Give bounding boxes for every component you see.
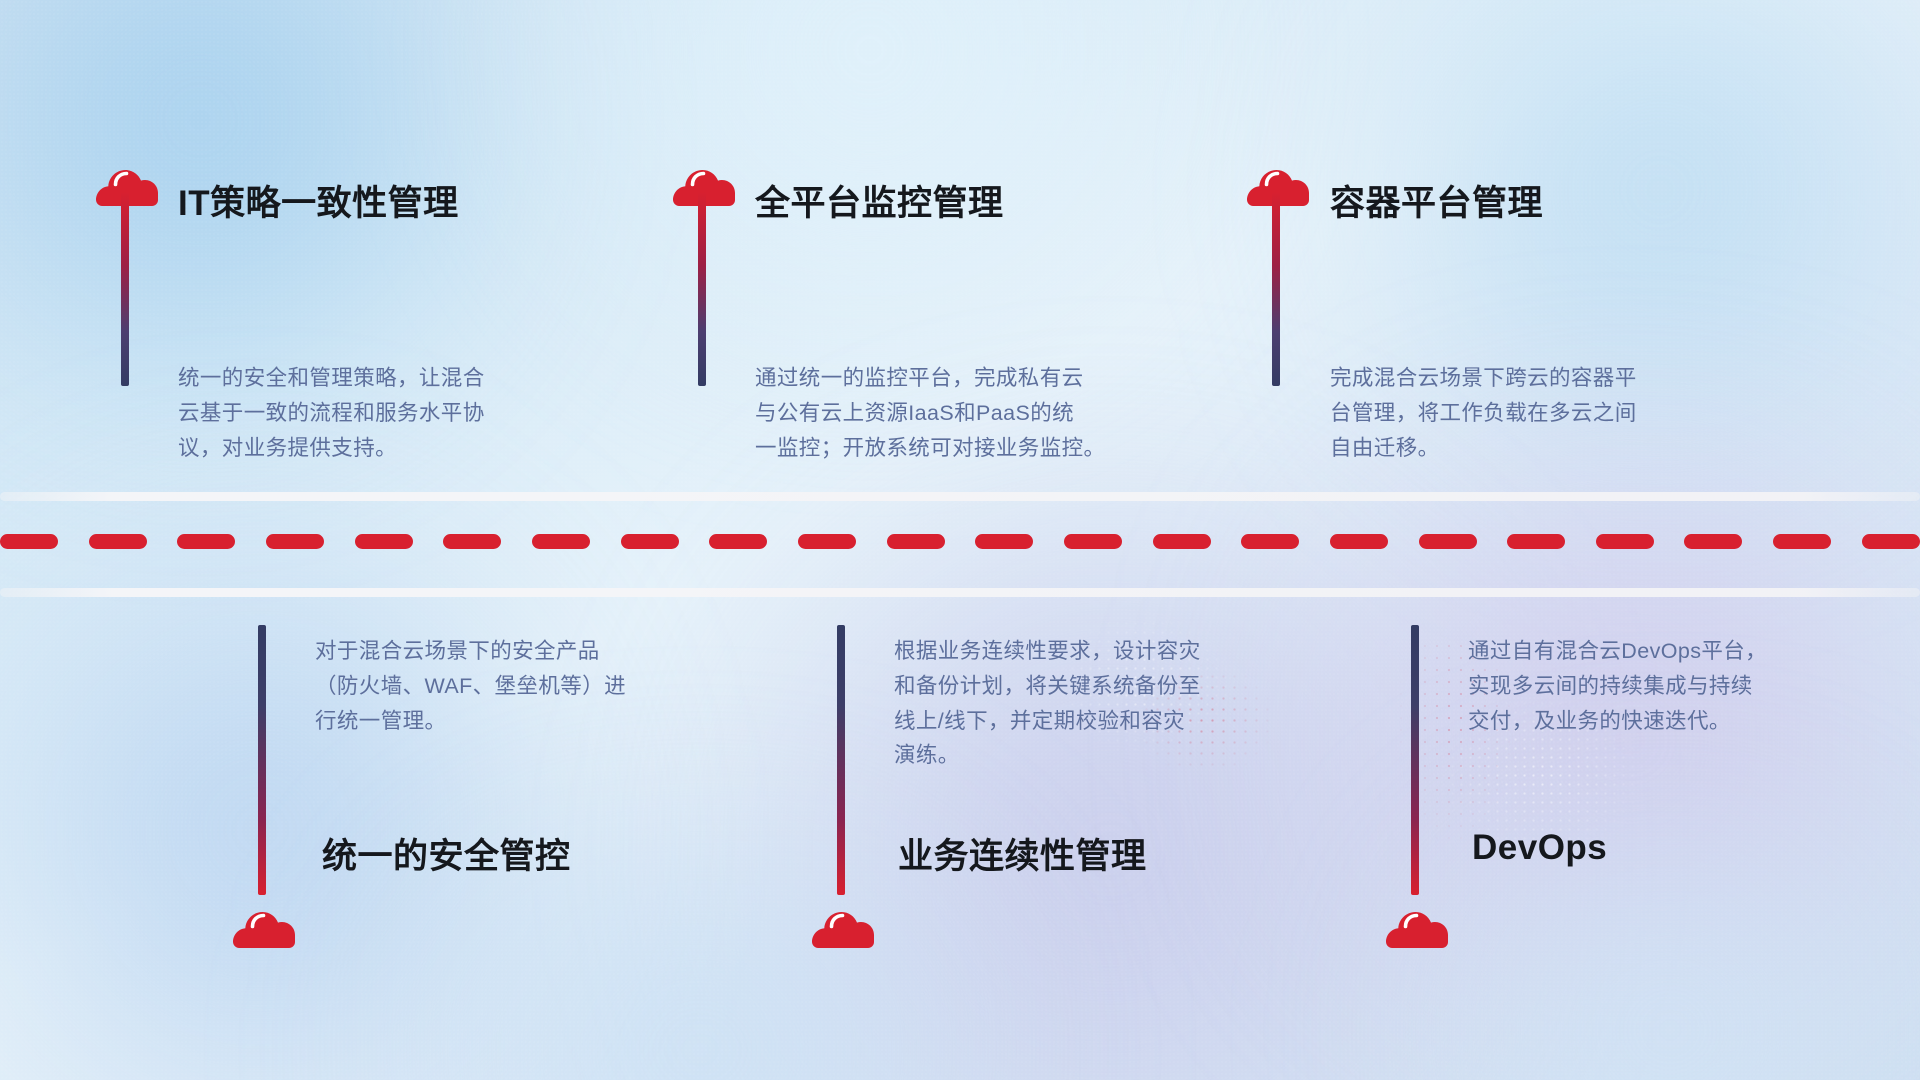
bottom-row: 对于混合云场景下的安全产品 （防火墙、WAF、堡垒机等）进 行统一管理。 统一的… [0,0,1920,1080]
feature-description: 对于混合云场景下的安全产品 （防火墙、WAF、堡垒机等）进 行统一管理。 [315,634,735,738]
feature-title: 统一的安全管控 [322,828,571,879]
connector-line [837,625,845,895]
feature-description: 根据业务连续性要求，设计容灾 和备份计划，将关键系统备份至 线上/线下，并定期校… [894,634,1324,773]
cloud-icon [233,902,295,948]
feature-description: 通过自有混合云DevOps平台， 实现多云间的持续集成与持续 交付，及业务的快速… [1468,634,1898,738]
connector-line [258,625,266,895]
cloud-icon [1386,902,1448,948]
cloud-icon [812,902,874,948]
feature-title: 业务连续性管理 [898,828,1147,879]
connector-line [1411,625,1419,895]
feature-title: DevOps [1472,828,1607,868]
